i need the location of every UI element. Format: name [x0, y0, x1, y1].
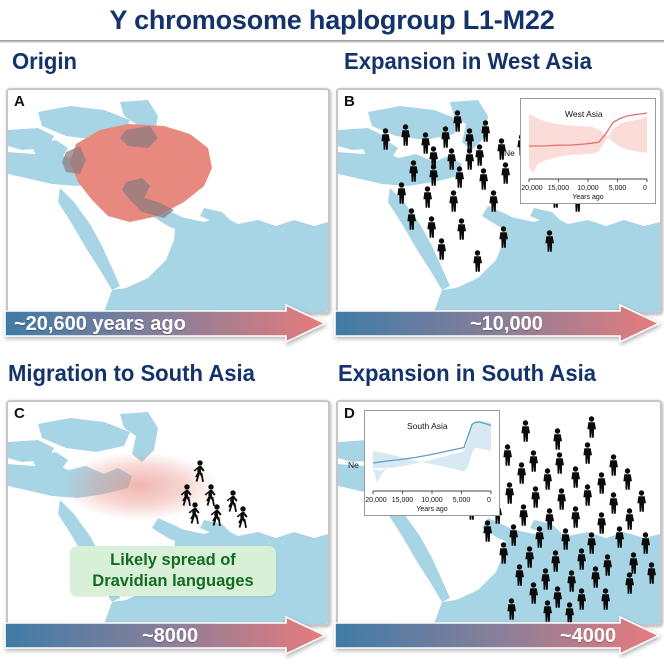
person-figure: [614, 526, 625, 548]
panel-d: Ne 20,000: [336, 400, 662, 626]
svg-text:0: 0: [643, 185, 647, 192]
person-figure: [636, 490, 647, 512]
panel-letter-a: A: [14, 93, 25, 110]
person-figure: [380, 128, 391, 150]
person-figure: [428, 164, 439, 186]
person-figure: [502, 444, 513, 466]
person-figure: [456, 218, 467, 240]
person-figure: [576, 588, 587, 610]
person-figure: [534, 526, 545, 548]
person-figure: [464, 148, 475, 170]
person-figure: [608, 454, 619, 476]
svg-text:20,000: 20,000: [365, 497, 387, 504]
person-figure: [600, 588, 611, 610]
person-figure: [586, 416, 597, 438]
person-figure: [570, 466, 581, 488]
person-figure: [608, 492, 619, 514]
person-figure: [540, 568, 551, 590]
inset-chart-south-asia: 20,000 15,000 10,000 5,000 0 Years ago S…: [364, 410, 500, 516]
person-figure: [624, 508, 635, 530]
svg-text:15,000: 15,000: [548, 185, 570, 192]
map-a: [8, 90, 328, 312]
inset-chart-west-asia: 20,000 15,000 10,000 5,000 0 Years ago W…: [520, 98, 656, 204]
arrow-label-b: ~10,000: [470, 314, 543, 334]
svg-text:5,000: 5,000: [453, 497, 471, 504]
svg-text:5,000: 5,000: [609, 185, 627, 192]
figure-title: Y chromosome haplogroup L1-M22: [0, 2, 664, 38]
panel-heading-d: Expansion in South Asia: [338, 358, 596, 388]
person-figure: [646, 562, 657, 584]
panel-a: A: [6, 88, 330, 314]
person-figure: [542, 468, 553, 490]
person-walking-figure: [210, 504, 224, 528]
inset-b-y-axis-label: Ne: [504, 148, 515, 158]
panel-b: Ne: [336, 88, 662, 314]
panel-c: Likely spread of Dravidian languages C: [6, 400, 330, 626]
svg-text:0: 0: [487, 497, 491, 504]
person-figure: [590, 566, 601, 588]
person-figure: [440, 126, 451, 148]
panel-letter-c: C: [14, 405, 25, 422]
person-walking-figure: [193, 460, 207, 484]
svg-text:10,000: 10,000: [577, 185, 599, 192]
svg-text:20,000: 20,000: [521, 185, 543, 192]
person-figure: [406, 208, 417, 230]
map-a-svg: [8, 90, 328, 312]
person-figure: [586, 532, 597, 554]
map-b: Ne: [338, 90, 660, 312]
person-figure: [436, 238, 447, 260]
person-figure: [408, 160, 419, 182]
person-figure: [426, 216, 437, 238]
callout-line-2: Dravidian languages: [70, 571, 276, 592]
inset-d-svg: 20,000 15,000 10,000 5,000 0 Years ago S…: [365, 411, 499, 515]
person-figure: [396, 182, 407, 204]
person-figure: [530, 486, 541, 508]
person-figure: [520, 420, 531, 442]
person-figure: [482, 520, 493, 542]
inset-d-title: South Asia: [407, 421, 448, 431]
person-figure: [582, 484, 593, 506]
person-figure: [640, 532, 651, 554]
person-figure: [544, 230, 555, 252]
title-divider: [0, 40, 664, 43]
person-figure: [576, 548, 587, 570]
person-figure: [516, 462, 527, 484]
panel-letter-b: B: [344, 93, 355, 110]
panel-heading-a: Origin: [12, 46, 77, 76]
person-figure: [596, 512, 607, 534]
callout-line-1: Likely spread of: [70, 550, 276, 571]
person-walking-figure: [236, 506, 250, 530]
panel-letter-d: D: [344, 405, 355, 422]
person-figure: [596, 472, 607, 494]
person-figure: [480, 120, 491, 142]
map-c: Likely spread of Dravidian languages: [8, 402, 328, 624]
map-d: Ne 20,000: [338, 402, 660, 624]
panel-heading-c: Migration to South Asia: [8, 358, 255, 388]
figure-root: Y chromosome haplogroup L1-M22 Origin Ex…: [0, 0, 664, 664]
inset-b-svg: 20,000 15,000 10,000 5,000 0 Years ago W…: [521, 99, 655, 203]
person-figure: [624, 572, 635, 594]
person-figure: [448, 190, 459, 212]
person-figure: [508, 524, 519, 546]
person-figure: [474, 144, 485, 166]
person-figure: [544, 508, 555, 530]
svg-text:Years ago: Years ago: [416, 506, 447, 513]
person-figure: [488, 190, 499, 212]
person-figure: [602, 554, 613, 576]
person-figure: [498, 226, 509, 248]
person-figure: [528, 450, 539, 472]
person-figure: [552, 428, 563, 450]
person-figure: [570, 506, 581, 528]
person-walking-figure: [188, 502, 202, 526]
person-figure: [622, 468, 633, 490]
person-figure: [400, 124, 411, 146]
arrow-label-c: ~8000: [142, 626, 198, 646]
arrow-label-a: ~20,600 years ago: [14, 314, 186, 334]
person-figure: [560, 528, 571, 550]
inset-d-y-axis-label: Ne: [348, 460, 359, 470]
person-figure: [554, 452, 565, 474]
person-figure: [504, 482, 515, 504]
person-figure: [500, 162, 511, 184]
dravidian-callout: Likely spread of Dravidian languages: [70, 546, 276, 596]
panel-heading-b: Expansion in West Asia: [344, 46, 592, 76]
person-figure: [498, 542, 509, 564]
person-figure: [552, 586, 563, 608]
inset-b-title: West Asia: [565, 109, 603, 119]
arrow-label-d: ~4000: [560, 626, 616, 646]
svg-text:10,000: 10,000: [421, 497, 443, 504]
person-figure: [422, 186, 433, 208]
person-figure: [556, 488, 567, 510]
person-figure: [550, 550, 561, 572]
person-figure: [478, 168, 489, 190]
svg-text:15,000: 15,000: [392, 497, 414, 504]
person-figure: [582, 442, 593, 464]
person-figure: [452, 110, 463, 132]
person-figure: [514, 564, 525, 586]
person-figure: [524, 546, 535, 568]
person-figure: [472, 250, 483, 272]
person-figure: [628, 552, 639, 574]
person-figure: [518, 504, 529, 526]
svg-text:Years ago: Years ago: [572, 194, 603, 201]
person-figure: [528, 582, 539, 604]
